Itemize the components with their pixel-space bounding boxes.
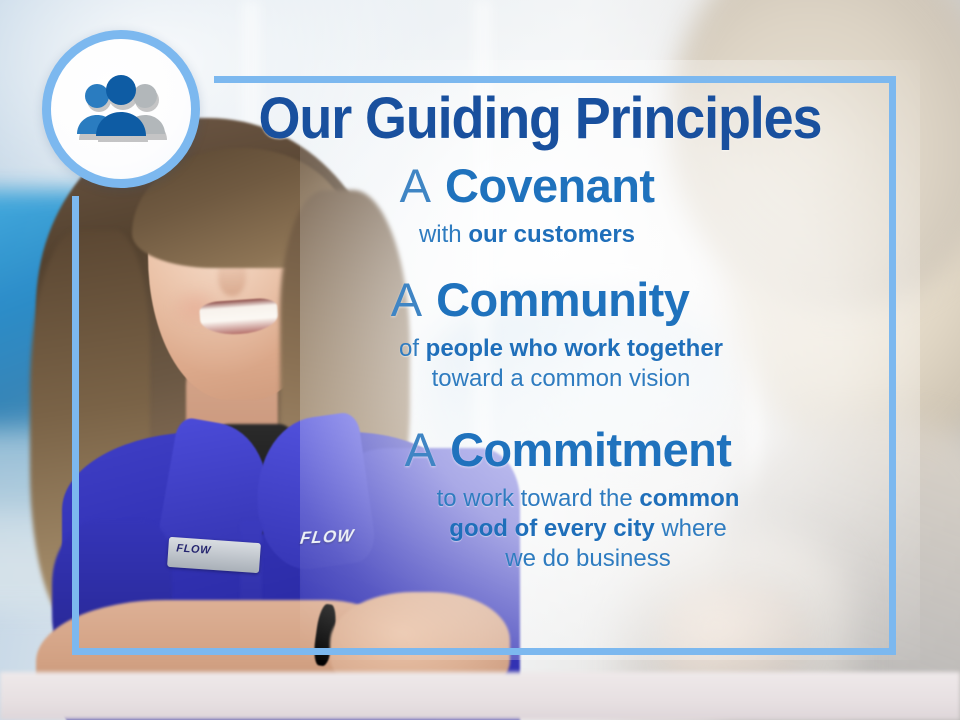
principle-sub-lead: with	[419, 221, 468, 248]
text-column: Our Guiding Principles A Covenant with o…	[200, 86, 880, 574]
frame-border-left	[72, 196, 79, 655]
principle-sub-bold: people who work together	[426, 335, 723, 362]
principle-sub-lead: to work toward the	[437, 485, 640, 512]
principle-sub-line3: we do business	[505, 545, 670, 572]
frame-border-top	[214, 76, 896, 83]
principle-keyword: Covenant	[445, 159, 654, 212]
principle-sub-bold: our customers	[468, 221, 635, 248]
principle-heading: A Community	[200, 272, 880, 328]
people-group-icon	[73, 74, 169, 144]
page-title: Our Guiding Principles	[224, 86, 856, 152]
people-group-badge	[42, 30, 200, 188]
principle-sub-tail: where	[655, 515, 727, 542]
principle-keyword: Community	[436, 273, 689, 326]
principle-subtext: with our customers	[200, 220, 880, 250]
frame-border-right	[889, 76, 896, 655]
principle-sub-lead: of	[399, 335, 426, 362]
table-surface	[0, 672, 960, 720]
principle-subtext: of people who work togethertoward a comm…	[200, 334, 880, 394]
principle-covenant: A Covenant with our customers	[200, 158, 880, 250]
principle-heading: A Commitment	[200, 422, 880, 478]
principle-sub-bold: common	[639, 485, 739, 512]
poster: FLOW FLOW	[0, 0, 960, 720]
principle-article: A	[391, 273, 423, 326]
principle-heading: A Covenant	[200, 158, 880, 214]
frame-border-bottom	[72, 648, 896, 655]
principle-keyword: Commitment	[450, 423, 731, 476]
principle-article: A	[405, 423, 437, 476]
principle-sub-bold2: good of every city	[449, 515, 654, 542]
principle-commitment: A Commitment to work toward the commongo…	[200, 422, 880, 574]
principle-community: A Community of people who work togethert…	[200, 272, 880, 394]
principle-subtext: to work toward the commongood of every c…	[200, 484, 880, 574]
principle-article: A	[400, 159, 432, 212]
principle-sub-line2: toward a common vision	[432, 365, 691, 392]
